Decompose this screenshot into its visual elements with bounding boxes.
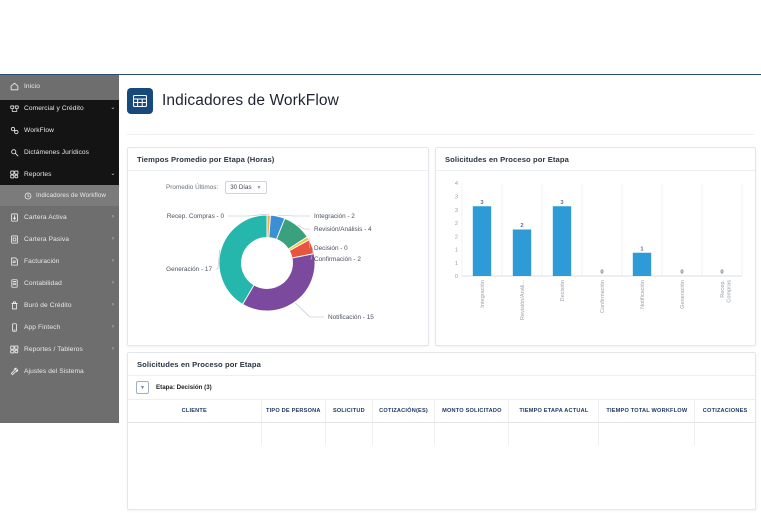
sidebar-item-label: Reportes / Tableros xyxy=(24,346,107,353)
sidebar-item-label: Inicio xyxy=(24,83,107,90)
bar-card-title: Solicitudes en Proceso por Etapa xyxy=(436,148,755,171)
card-solicitudes-chart: Solicitudes en Proceso por Etapa 4332211… xyxy=(435,147,756,346)
sidebar-item-cartera-pasiva[interactable]: Cartera Pasiva› xyxy=(0,228,119,250)
chevron-down-icon: ⌄ xyxy=(107,171,119,177)
table-empty-cell xyxy=(373,423,436,445)
header-divider xyxy=(127,134,754,135)
sidebar-item-label: Contabilidad xyxy=(24,280,107,287)
average-period-label: Promedio Últimos: xyxy=(166,184,218,191)
donut-slice xyxy=(243,254,315,311)
sidebar: InicioComercial y Crédito⌄WorkFlowDictám… xyxy=(0,75,119,423)
sidebar-item-label: Cartera Activa xyxy=(24,214,107,221)
table-group-label: Etapa: Decisión (3) xyxy=(156,384,212,391)
sidebar-item-list: InicioComercial y Crédito⌄WorkFlowDictám… xyxy=(0,75,119,382)
sidebar-item-buro-de-credito[interactable]: Buró de Crédito› xyxy=(0,294,119,316)
sidebar-item-label: Buró de Crédito xyxy=(24,302,107,309)
bar-value-label: 1 xyxy=(640,246,644,252)
sidebar-item-label: Facturación xyxy=(24,258,107,265)
invoice-icon xyxy=(10,257,24,266)
table-header-row: CLIENTETIPO DE PERSONASOLICITUDCOTIZACIÓ… xyxy=(128,400,755,423)
average-period-value: 30 Días xyxy=(230,184,251,191)
bar-value-label: 3 xyxy=(560,200,564,206)
bar-value-label: 0 xyxy=(720,270,723,276)
sidebar-item-comercial-y-credito[interactable]: Comercial y Crédito⌄ xyxy=(0,97,119,119)
donut-slice-label: Notificación - 15 xyxy=(328,314,374,321)
svg-text:Decisión: Decisión xyxy=(560,280,566,301)
sidebar-item-workflow[interactable]: WorkFlow xyxy=(0,119,119,141)
sidebar-item-indicadores-de-workflow[interactable]: Indicadores de Workflow xyxy=(0,185,119,206)
bar-y-tick-label: 3 xyxy=(455,194,458,200)
handshake-icon xyxy=(10,104,24,113)
table-column-header[interactable]: MONTO SOLICITADO xyxy=(435,400,509,422)
donut-chart: Recep. Compras - 0Integración - 2Revisió… xyxy=(128,197,428,337)
bar-y-tick-label: 2 xyxy=(455,221,458,227)
table-empty-cell xyxy=(695,423,755,445)
table-column-header[interactable]: COTIZACIONES xyxy=(695,400,755,422)
chevron-right-icon: › xyxy=(107,302,119,308)
bar-x-tick-label: Decisión xyxy=(560,280,566,301)
gavel-icon xyxy=(10,148,24,157)
bar xyxy=(633,253,651,276)
donut-slice-label: Generación - 17 xyxy=(166,266,212,273)
sidebar-item-label: Dictámenes Jurídicos xyxy=(24,149,107,156)
donut-leader-line xyxy=(295,303,324,317)
svg-text:Compras: Compras xyxy=(726,280,732,303)
chevron-right-icon: › xyxy=(107,324,119,330)
table-group-row[interactable]: ▼ Etapa: Decisión (3) xyxy=(128,376,755,400)
home-icon xyxy=(10,82,24,91)
chevron-right-icon: › xyxy=(107,258,119,264)
grid-table-icon xyxy=(127,88,153,114)
svg-text:Confirmación: Confirmación xyxy=(600,280,606,313)
table-empty-cell xyxy=(128,423,262,445)
bar-value-label: 2 xyxy=(520,223,523,229)
bar-y-tick-label: 1 xyxy=(455,261,458,267)
donut-card-body: Promedio Últimos: 30 Días ▼ Recep. Compr… xyxy=(128,171,428,337)
reports-icon xyxy=(10,170,24,179)
bar-y-tick-label: 3 xyxy=(455,208,458,214)
chevron-right-icon: › xyxy=(107,214,119,220)
wrench-icon xyxy=(10,367,24,376)
sidebar-item-label: Comercial y Crédito xyxy=(24,105,107,112)
sidebar-item-label: Ajustes del Sistema xyxy=(24,368,107,375)
bar-x-tick-label: Notificación xyxy=(640,280,646,309)
bar-x-tick-label: Generación xyxy=(680,280,686,309)
portfolio-active-icon xyxy=(10,213,24,222)
average-period-select[interactable]: 30 Días ▼ xyxy=(225,181,266,194)
bar-x-tick-label: Confirmación xyxy=(600,280,606,313)
donut-slice-label: Integración - 2 xyxy=(314,213,355,220)
bar-chart-svg: 433221103Integración2Revisión/Análi...3D… xyxy=(436,171,753,337)
chevron-right-icon: › xyxy=(107,280,119,286)
dashboards-icon xyxy=(10,345,24,354)
sidebar-item-contabilidad[interactable]: Contabilidad› xyxy=(0,272,119,294)
app-screen: InicioComercial y Crédito⌄WorkFlowDictám… xyxy=(0,0,761,513)
bar xyxy=(513,230,531,277)
sidebar-item-app-fintech[interactable]: App Fintech› xyxy=(0,316,119,338)
sidebar-item-reportes[interactable]: Reportes⌄ xyxy=(0,163,119,185)
donut-slice-label: Confirmación - 2 xyxy=(314,256,361,263)
sidebar-item-ajustes-del-sistema[interactable]: Ajustes del Sistema xyxy=(0,360,119,382)
sidebar-item-label: Indicadores de Workflow xyxy=(36,192,107,199)
mobile-icon xyxy=(10,323,24,332)
chevron-down-icon: ▼ xyxy=(257,185,262,191)
donut-slice-label: Revisión/Análisis - 4 xyxy=(314,226,372,233)
top-strip xyxy=(0,0,761,75)
bar-value-label: 3 xyxy=(480,200,484,206)
sidebar-item-label: Reportes xyxy=(24,171,107,178)
sidebar-item-label: App Fintech xyxy=(24,324,107,331)
table-empty-cell xyxy=(599,423,695,445)
table-column-header[interactable]: SOLICITUD xyxy=(326,400,373,422)
main-content: Indicadores de WorkFlow Tiempos Promedio… xyxy=(119,75,761,513)
clock-icon xyxy=(24,192,36,200)
donut-leader-line xyxy=(278,215,310,216)
bar-x-tick-label: Recep.Compras xyxy=(720,280,732,303)
card-tiempos-promedio: Tiempos Promedio por Etapa (Horas) Prome… xyxy=(127,147,429,346)
svg-text:Generación: Generación xyxy=(680,280,686,309)
bar-y-tick-label: 4 xyxy=(455,181,458,187)
donut-card-title: Tiempos Promedio por Etapa (Horas) xyxy=(128,148,428,171)
sidebar-item-reportes-tableros[interactable]: Reportes / Tableros› xyxy=(0,338,119,360)
svg-text:Recep.: Recep. xyxy=(720,280,726,298)
bar xyxy=(473,206,491,276)
sidebar-item-facturacion[interactable]: Facturación› xyxy=(0,250,119,272)
bar-y-tick-label: 0 xyxy=(455,274,458,280)
bar-x-tick-label: Revisión/Análi... xyxy=(520,280,526,321)
sidebar-item-cartera-activa[interactable]: Cartera Activa› xyxy=(0,206,119,228)
bar-x-tick-label: Integración xyxy=(480,280,486,308)
table-column-header[interactable]: CLIENTE xyxy=(128,400,262,422)
table-card-title: Solicitudes en Proceso por Etapa xyxy=(128,353,755,376)
sidebar-item-inicio[interactable]: Inicio xyxy=(0,75,119,97)
bar-value-label: 0 xyxy=(680,270,683,276)
chevron-down-icon: ⌄ xyxy=(107,105,119,111)
svg-text:Integración: Integración xyxy=(480,280,486,308)
chevron-right-icon: › xyxy=(107,236,119,242)
accounting-icon xyxy=(10,279,24,288)
sidebar-item-label: WorkFlow xyxy=(24,127,107,134)
sidebar-item-label: Cartera Pasiva xyxy=(24,236,107,243)
svg-text:Notificación: Notificación xyxy=(640,280,646,309)
bar-y-tick-label: 1 xyxy=(455,248,458,254)
page-title: Indicadores de WorkFlow xyxy=(162,92,339,110)
bureau-icon xyxy=(10,301,24,310)
table-column-header[interactable]: TIPO DE PERSONA xyxy=(262,400,327,422)
table-column-header[interactable]: COTIZACIÓN(ES) xyxy=(373,400,436,422)
bar-value-label: 0 xyxy=(600,270,603,276)
sidebar-item-dictamenes-juridicos[interactable]: Dictámenes Jurídicos xyxy=(0,141,119,163)
workflow-icon xyxy=(10,126,24,135)
card-solicitudes-table: Solicitudes en Proceso por Etapa ▼ Etapa… xyxy=(127,352,756,510)
svg-text:Revisión/Análi...: Revisión/Análi... xyxy=(520,280,526,321)
table-empty-cell xyxy=(262,423,327,445)
average-period-control: Promedio Últimos: 30 Días ▼ xyxy=(166,181,267,194)
page-header: Indicadores de WorkFlow xyxy=(127,88,339,114)
donut-slice-label: Recep. Compras - 0 xyxy=(167,213,225,220)
donut-slice-label: Decisión - 0 xyxy=(314,245,348,252)
table-column-header[interactable]: TIEMPO ETAPA ACTUAL xyxy=(509,400,599,422)
portfolio-passive-icon xyxy=(10,235,24,244)
bar xyxy=(553,206,571,276)
donut-chart-svg: Recep. Compras - 0Integración - 2Revisió… xyxy=(128,197,428,337)
table-body-empty xyxy=(128,423,755,445)
table-empty-cell xyxy=(435,423,509,445)
chevron-down-icon[interactable]: ▼ xyxy=(136,381,149,394)
table-column-header[interactable]: TIEMPO TOTAL WORKFLOW xyxy=(599,400,695,422)
table-empty-cell xyxy=(509,423,599,445)
table-empty-cell xyxy=(326,423,373,445)
bar-y-tick-label: 2 xyxy=(455,234,458,240)
chevron-right-icon: › xyxy=(107,346,119,352)
bar-card-body: 433221103Integración2Revisión/Análi...3D… xyxy=(436,171,755,337)
